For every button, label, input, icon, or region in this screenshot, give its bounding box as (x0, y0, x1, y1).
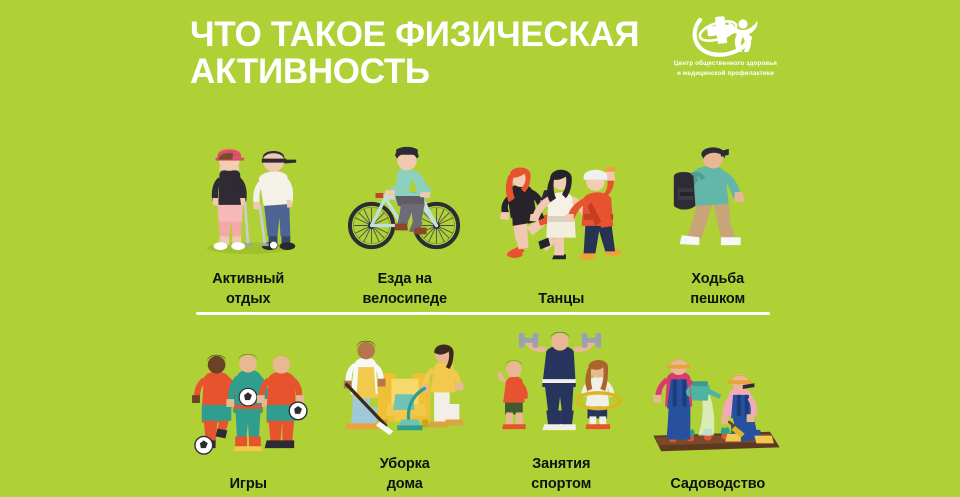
activity-item-dancing: Танцы (483, 125, 640, 310)
activity-label: Активный отдых (212, 269, 284, 310)
activity-label-line-2: пешком (690, 289, 745, 310)
activity-item-gardening: Садоводство (640, 330, 797, 495)
walking-person-illustration (664, 135, 772, 255)
activity-label-line-1: Уборка (380, 454, 430, 475)
activity-item-sports: Занятия спортом (483, 330, 640, 495)
cyclist-illustration (346, 135, 464, 255)
activity-label-line-1: Садоводство (670, 474, 765, 495)
activity-label-line-2: дома (380, 474, 430, 495)
logo-text-line-1: Центр общественного здоровья (658, 59, 793, 69)
activities-row-2: Игры (170, 330, 796, 495)
activity-label-line-1: Ходьба (690, 269, 745, 290)
house-cleaning-illustration (337, 338, 473, 438)
activity-label-line-2: спортом (531, 474, 591, 495)
activity-item-active-leisure: Активный отдых (170, 125, 327, 310)
page-title: ЧТО ТАКОЕ ФИЗИЧЕСКАЯ АКТИВНОСТЬ (190, 16, 660, 91)
activity-label-line-2: велосипеде (362, 289, 447, 310)
activity-label-line-1: Езда на (362, 269, 447, 290)
activity-label-line-1: Активный (212, 269, 284, 290)
activity-label: Ходьба пешком (690, 269, 745, 310)
organization-logo-text: Центр общественного здоровья и медицинск… (658, 59, 793, 78)
activity-label: Игры (230, 474, 267, 495)
activity-label-line-1: Игры (230, 474, 267, 495)
activity-label-line-1: Занятия (531, 454, 591, 475)
activity-item-walking: Ходьба пешком (640, 125, 797, 310)
section-divider (196, 312, 770, 315)
page-title-line-2: АКТИВНОСТЬ (190, 53, 660, 90)
page-title-line-1: ЧТО ТАКОЕ ФИЗИЧЕСКАЯ (190, 16, 660, 53)
activity-item-cycling: Езда на велосипеде (327, 125, 484, 310)
logo-text-line-2: и медицинской профилактики (658, 69, 793, 79)
family-workout-illustration (497, 338, 625, 438)
poster-header: ЧТО ТАКОЕ ФИЗИЧЕСКАЯ АКТИВНОСТЬ (0, 0, 960, 110)
activity-item-house-cleaning: Уборка дома (327, 330, 484, 495)
activity-label: Садоводство (670, 474, 765, 495)
organization-logo: Центр общественного здоровья и медицинск… (658, 12, 793, 92)
activity-label-line-1: Танцы (538, 289, 584, 310)
activity-label: Занятия спортом (531, 454, 591, 495)
activity-label: Езда на велосипеде (362, 269, 447, 310)
football-players-illustration (184, 358, 312, 458)
golf-players-illustration (189, 135, 307, 255)
activity-label: Уборка дома (380, 454, 430, 495)
activity-label: Танцы (538, 289, 584, 310)
health-center-emblem-icon (688, 12, 760, 58)
dancers-illustration (497, 155, 625, 275)
activities-row-1: Активный отдых (170, 125, 796, 310)
activities-grid: Активный отдых (170, 125, 796, 310)
infographic-poster: ЧТО ТАКОЕ ФИЗИЧЕСКАЯ АКТИВНОСТЬ (0, 0, 960, 497)
gardening-illustration (647, 358, 789, 458)
activity-label-line-2: отдых (212, 289, 284, 310)
activity-item-games: Игры (170, 330, 327, 495)
